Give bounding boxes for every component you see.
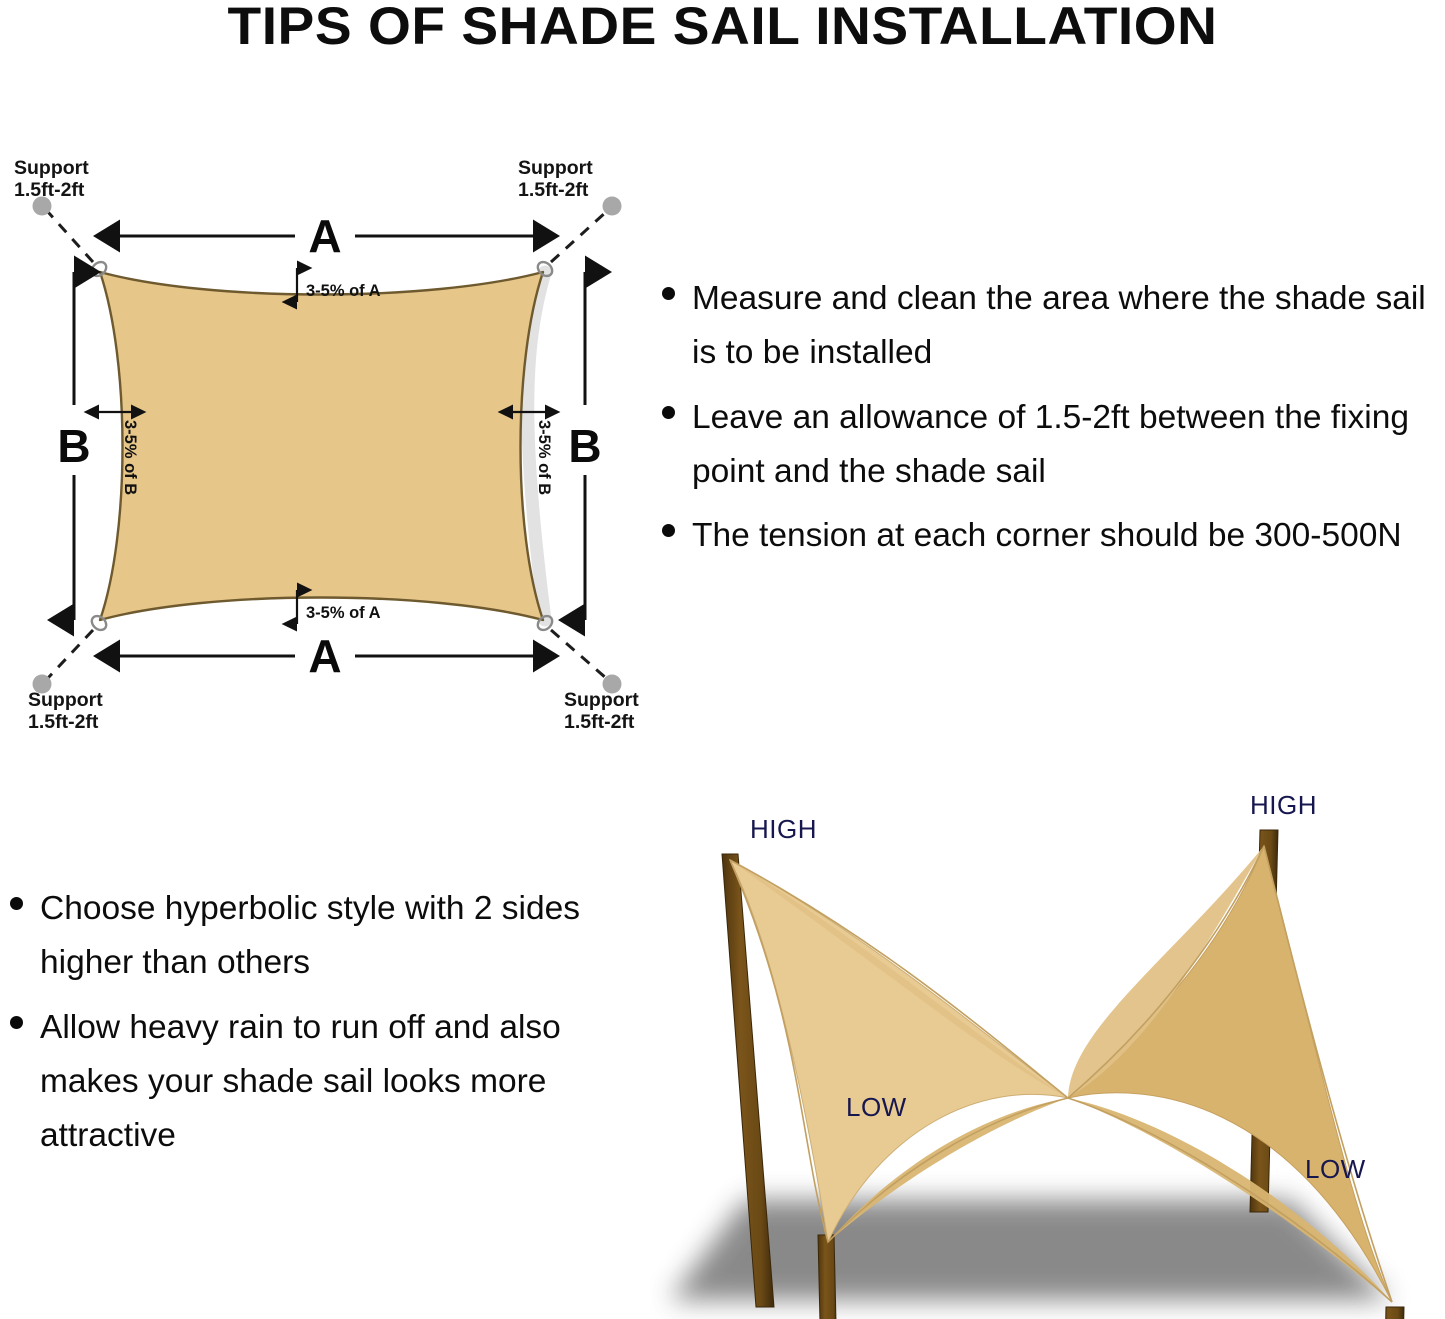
label-low-left: LOW	[846, 1092, 907, 1122]
support-label-top-right-line2: 1.5ft-2ft	[518, 179, 589, 201]
dash-top-right	[551, 212, 606, 262]
bullet-dot-icon	[10, 897, 23, 910]
support-label-bottom-right-line2: 1.5ft-2ft	[564, 711, 635, 730]
tip-text: The tension at each corner should be 300…	[692, 509, 1445, 563]
support-label-top-left-line2: 1.5ft-2ft	[14, 179, 85, 201]
tip-item: Leave an allowance of 1.5-2ft between th…	[652, 391, 1445, 500]
curvature-label-left: 3-5% of B	[121, 420, 139, 495]
support-label-top-left-line1: Support	[14, 157, 89, 179]
label-high-left: HIGH	[750, 814, 817, 844]
dash-bottom-right	[551, 630, 606, 678]
shade-sail-shape	[100, 272, 543, 620]
tip-item: Allow heavy rain to run off and also mak…	[0, 1001, 620, 1164]
bullet-dot-icon	[662, 406, 675, 419]
support-label-bottom-right-line1: Support	[564, 689, 639, 711]
dimension-label-B-right: B	[568, 420, 601, 472]
label-low-right: LOW	[1305, 1154, 1366, 1184]
rectangular-sail-diagram: Support 1.5ft-2ft Support 1.5ft-2ft Supp…	[0, 150, 660, 730]
tip-text: Leave an allowance of 1.5-2ft between th…	[692, 391, 1445, 500]
hyperbolic-style-tips-list: Choose hyperbolic style with 2 sides hig…	[0, 882, 620, 1173]
dash-bottom-left	[48, 630, 93, 678]
tip-item: Measure and clean the area where the sha…	[652, 272, 1445, 381]
post-front-right-low	[1380, 1307, 1404, 1319]
dimension-label-B-left: B	[57, 420, 90, 472]
tip-text: Allow heavy rain to run off and also mak…	[40, 1001, 620, 1164]
dimension-label-A-bottom: A	[308, 630, 341, 682]
support-label-bottom-left-line2: 1.5ft-2ft	[28, 711, 99, 730]
hypar-svg: HIGH HIGH LOW LOW	[650, 780, 1445, 1319]
bullet-dot-icon	[10, 1016, 23, 1029]
tip-item: The tension at each corner should be 300…	[652, 509, 1445, 563]
page-title: TIPS OF SHADE SAIL INSTALLATION	[0, 0, 1445, 60]
installation-tips-list: Measure and clean the area where the sha…	[652, 272, 1445, 573]
curvature-label-top: 3-5% of A	[306, 282, 381, 300]
dash-top-left	[48, 212, 93, 262]
bullet-dot-icon	[662, 524, 675, 537]
curvature-label-right: 3-5% of B	[535, 420, 553, 495]
tip-text: Measure and clean the area where the sha…	[692, 272, 1445, 381]
curvature-label-bottom: 3-5% of A	[306, 604, 381, 622]
support-label-top-right-line1: Support	[518, 157, 593, 179]
label-high-right: HIGH	[1250, 790, 1317, 820]
dimension-label-A-top: A	[308, 210, 341, 262]
support-dot-top-right	[603, 197, 622, 216]
bullet-dot-icon	[662, 287, 675, 300]
support-label-bottom-left-line1: Support	[28, 689, 103, 711]
tip-text: Choose hyperbolic style with 2 sides hig…	[40, 882, 620, 991]
rect-diagram-svg: Support 1.5ft-2ft Support 1.5ft-2ft Supp…	[0, 150, 660, 730]
tip-item: Choose hyperbolic style with 2 sides hig…	[0, 882, 620, 991]
hyperbolic-sail-illustration: HIGH HIGH LOW LOW	[650, 780, 1445, 1319]
